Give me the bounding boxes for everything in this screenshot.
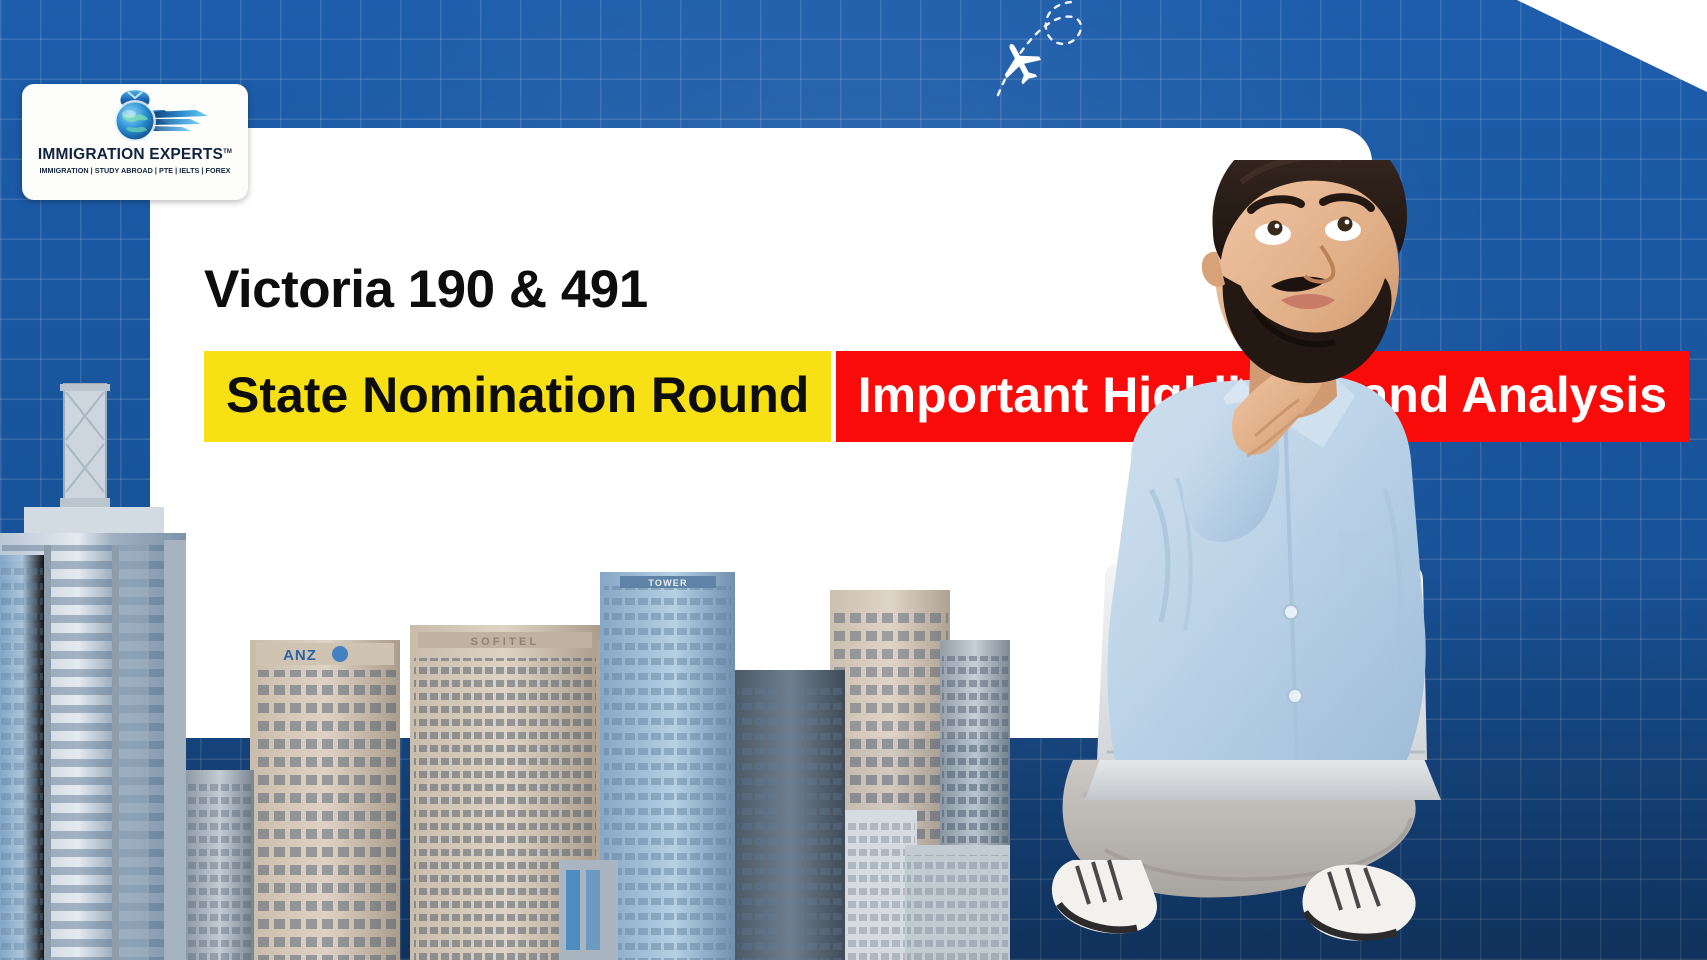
subtitle-band-red: Important Highlights and Analysis	[836, 351, 1689, 442]
winged-globe-icon	[60, 88, 210, 146]
page-title: Victoria 190 & 491	[204, 262, 1689, 318]
airplane-icon	[993, 35, 1047, 90]
dashed-flight-path-icon	[940, 0, 1130, 120]
subtitle-band-yellow: State Nomination Round	[204, 351, 831, 442]
plane-decoration	[940, 0, 1130, 120]
logo-name: IMMIGRATION EXPERTSTM	[38, 147, 232, 163]
brand-logo[interactable]: IMMIGRATION EXPERTSTM IMMIGRATION | STUD…	[22, 84, 248, 200]
logo-tagline: IMMIGRATION | STUDY ABROAD | PTE | IELTS…	[39, 166, 230, 175]
promo-banner: SOFITEL ANZ TOWER	[0, 0, 1707, 960]
logo-trademark: TM	[223, 149, 232, 155]
headline-block: Victoria 190 & 491 State Nomination Roun…	[204, 262, 1689, 442]
